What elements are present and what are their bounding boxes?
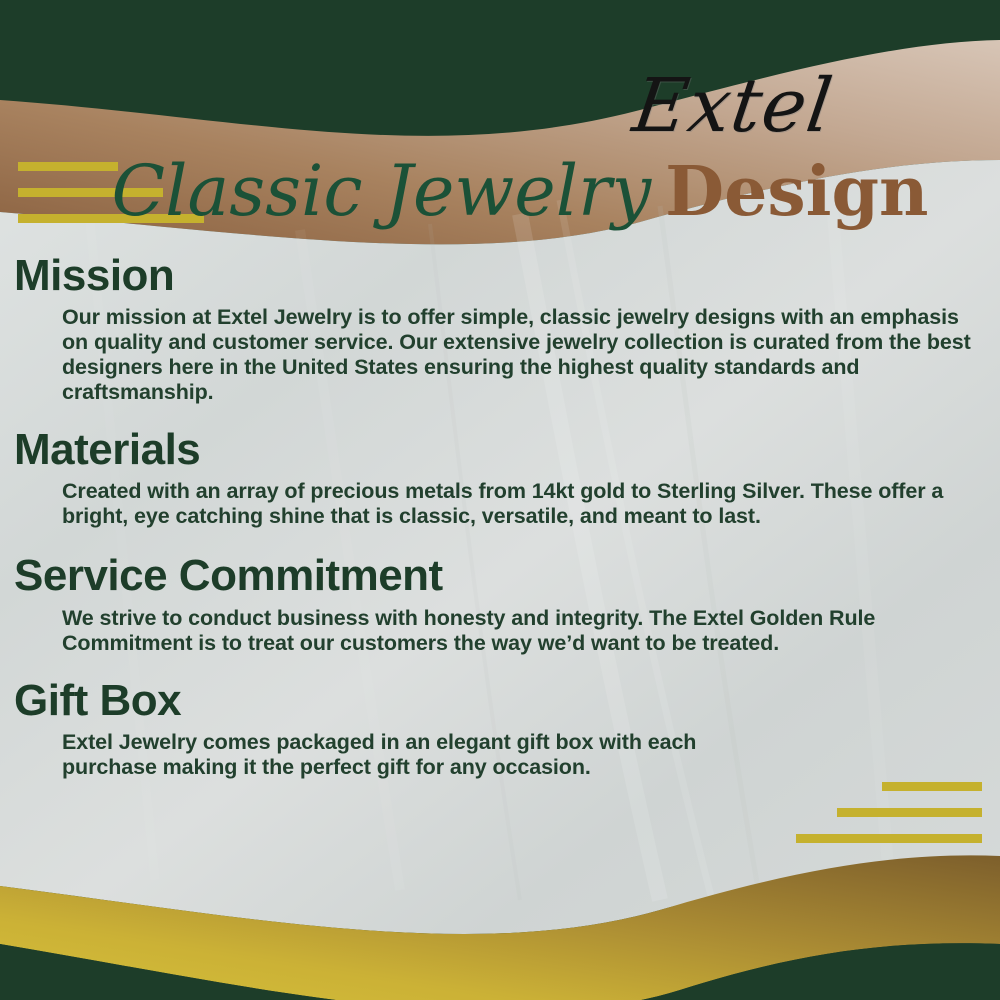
gold-rule-5 bbox=[837, 808, 982, 817]
section-heading-gift-box: Gift Box bbox=[0, 678, 1000, 724]
section-body-materials: Created with an array of precious metals… bbox=[0, 479, 1000, 529]
section-gift-box: Gift Box Extel Jewelry comes packaged in… bbox=[0, 678, 1000, 780]
section-body-mission: Our mission at Extel Jewelry is to offer… bbox=[0, 305, 1000, 405]
section-materials: Materials Created with an array of preci… bbox=[0, 427, 1000, 529]
poster-canvas: Extel Classic JewelryDesign Mission Our … bbox=[0, 0, 1000, 1000]
content-sections: Mission Our mission at Extel Jewelry is … bbox=[0, 253, 1000, 780]
page-title-primary: Classic Jewelry bbox=[112, 150, 652, 232]
section-heading-materials: Materials bbox=[0, 427, 1000, 473]
section-body-service-commitment: We strive to conduct business with hones… bbox=[0, 606, 1000, 656]
section-heading-mission: Mission bbox=[0, 253, 1000, 299]
gold-rule-4 bbox=[882, 782, 982, 791]
section-mission: Mission Our mission at Extel Jewelry is … bbox=[0, 253, 1000, 405]
gold-rule-6 bbox=[796, 834, 982, 843]
section-service-commitment: Service Commitment We strive to conduct … bbox=[0, 553, 1000, 655]
page-title-secondary: Design bbox=[665, 152, 928, 232]
brand-wordmark: Extel bbox=[0, 72, 1000, 140]
section-heading-service-commitment: Service Commitment bbox=[0, 553, 1000, 599]
page-title: Classic JewelryDesign bbox=[0, 150, 1000, 232]
brand-header: Extel Classic JewelryDesign bbox=[0, 72, 1000, 232]
decorative-rules-bottom-right bbox=[796, 782, 982, 860]
section-body-gift-box: Extel Jewelry comes packaged in an elega… bbox=[0, 730, 1000, 780]
